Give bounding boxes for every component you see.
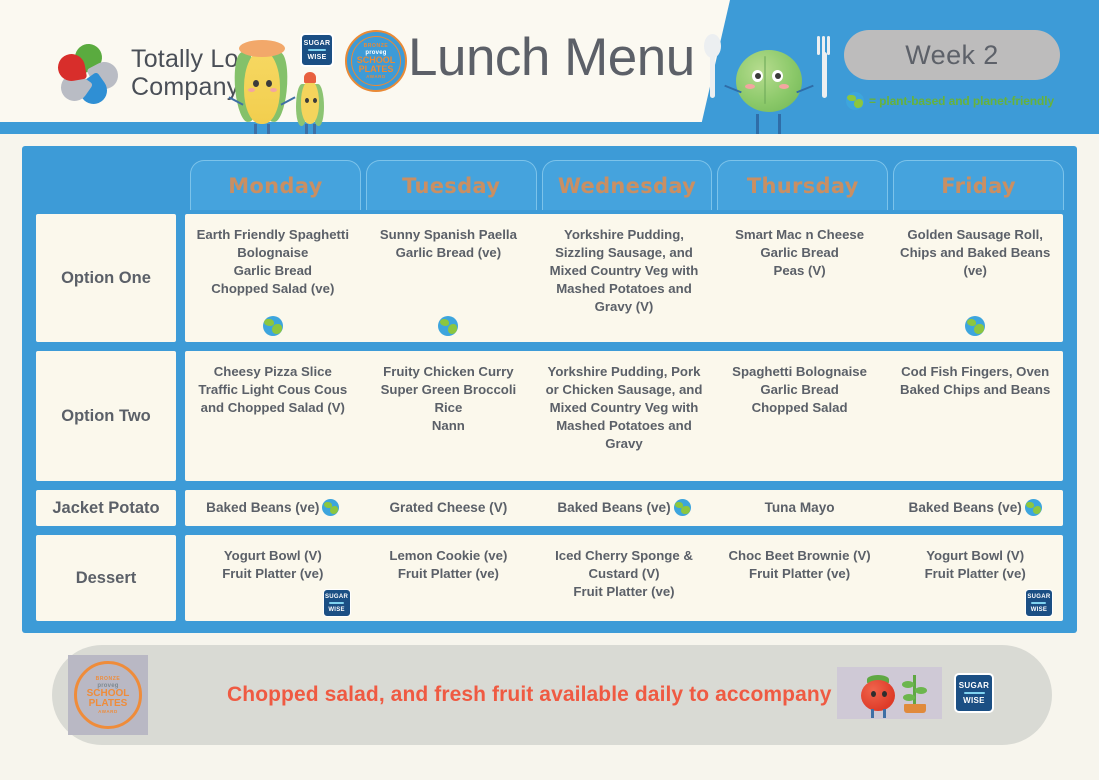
sugarwise-badge-cell: SUGARWISE bbox=[1025, 589, 1053, 617]
sugarwise-bottom-text: WISE bbox=[328, 607, 345, 613]
row-label-text: Option One bbox=[61, 269, 151, 288]
menu-cell: Baked Beans (ve) bbox=[536, 490, 712, 526]
menu-cell: Cheesy Pizza SliceTraffic Light Cous Cou… bbox=[185, 351, 361, 481]
menu-item-text: Fruity Chicken CurrySuper Green Broccoli… bbox=[381, 363, 517, 435]
menu-page: Totally Local Company bbox=[0, 0, 1099, 780]
menu-item-text: Cheesy Pizza SliceTraffic Light Cous Cou… bbox=[198, 363, 347, 417]
row-label-jacket-potato: Jacket Potato bbox=[36, 490, 176, 526]
sugarwise-bottom-text: WISE bbox=[307, 54, 326, 61]
menu-item-text: Earth Friendly SpaghettiBolognaiseGarlic… bbox=[197, 226, 349, 298]
sugarwise-top-text: SUGAR bbox=[1027, 594, 1050, 600]
menu-cell: Lemon Cookie (ve)Fruit Platter (ve) bbox=[361, 535, 537, 621]
week-badge: Week 2 bbox=[844, 30, 1060, 80]
sugarwise-top-text: SUGAR bbox=[325, 594, 348, 600]
globe-icon bbox=[674, 499, 691, 516]
menu-cell: Baked Beans (ve) bbox=[887, 490, 1063, 526]
sugarwise-bottom-text: WISE bbox=[1031, 607, 1048, 613]
sprout-mascot-icon bbox=[728, 44, 810, 140]
corn-mascot-icon bbox=[236, 36, 290, 140]
row-cells: Yogurt Bowl (V)Fruit Platter (ve)SUGARWI… bbox=[185, 535, 1063, 621]
menu-cell: Choc Beet Brownie (V)Fruit Platter (ve) bbox=[712, 535, 888, 621]
page-header: Totally Local Company bbox=[0, 0, 1099, 148]
sugarwise-swoosh-icon-footer bbox=[964, 691, 985, 695]
plates-award-label-footer: AWARD bbox=[98, 709, 118, 714]
row-cells: Earth Friendly SpaghettiBolognaiseGarlic… bbox=[185, 214, 1063, 342]
plates-tier-label-footer: BRONZE bbox=[96, 676, 121, 682]
menu-item-text: Iced Cherry Sponge &Custard (V)Fruit Pla… bbox=[555, 547, 693, 601]
sugarwise-swoosh-icon bbox=[329, 601, 344, 605]
menu-row: Jacket PotatoBaked Beans (ve)Grated Chee… bbox=[36, 490, 1063, 526]
menu-cell: Yogurt Bowl (V)Fruit Platter (ve)SUGARWI… bbox=[185, 535, 361, 621]
menu-item-text: Grated Cheese (V) bbox=[389, 499, 507, 517]
row-label-text: Option Two bbox=[61, 407, 151, 426]
sugarwise-badge-cell: SUGARWISE bbox=[323, 589, 351, 617]
menu-cell: Iced Cherry Sponge &Custard (V)Fruit Pla… bbox=[536, 535, 712, 621]
row-label-text: Dessert bbox=[76, 569, 137, 588]
menu-item-text: Baked Beans (ve) bbox=[206, 499, 319, 517]
footer-banner: BRONZE proveg SCHOOL PLATES AWARD Choppe… bbox=[52, 645, 1052, 745]
day-label: Thursday bbox=[747, 174, 859, 198]
row-cells: Cheesy Pizza SliceTraffic Light Cous Cou… bbox=[185, 351, 1063, 481]
row-label-option-two: Option Two bbox=[36, 351, 176, 481]
globe-icon bbox=[846, 92, 864, 110]
day-tab-tuesday: Tuesday bbox=[366, 160, 537, 210]
day-label: Wednesday bbox=[558, 174, 696, 198]
week-label: Week 2 bbox=[905, 40, 998, 71]
menu-item-text: Yorkshire Pudding, Porkor Chicken Sausag… bbox=[546, 363, 703, 453]
menu-item-text: Cod Fish Fingers, OvenBaked Chips and Be… bbox=[900, 363, 1050, 399]
day-tab-wednesday: Wednesday bbox=[542, 160, 713, 210]
plates-line2-footer: PLATES bbox=[87, 699, 130, 709]
menu-cell: Golden Sausage Roll,Chips and Baked Bean… bbox=[887, 214, 1063, 342]
fork-icon bbox=[816, 36, 832, 98]
sugarwise-swoosh-icon bbox=[1031, 601, 1046, 605]
menu-row: Option OneEarth Friendly SpaghettiBologn… bbox=[36, 214, 1063, 342]
school-plates-badge-header: BRONZE proveg SCHOOL PLATES AWARD bbox=[345, 30, 407, 92]
menu-item-text: Choc Beet Brownie (V)Fruit Platter (ve) bbox=[729, 547, 871, 583]
menu-row: Option TwoCheesy Pizza SliceTraffic Ligh… bbox=[36, 351, 1063, 481]
spoon-icon bbox=[702, 34, 722, 98]
sugarwise-top-text-footer: SUGAR bbox=[959, 682, 989, 690]
globe-icon bbox=[965, 316, 985, 336]
menu-item-text: Baked Beans (ve) bbox=[909, 499, 1022, 517]
globe-icon bbox=[438, 316, 458, 336]
tomato-mascot-image bbox=[837, 667, 942, 719]
day-tab-monday: Monday bbox=[190, 160, 361, 210]
menu-item-text: Yogurt Bowl (V)Fruit Platter (ve) bbox=[222, 547, 323, 583]
menu-table: Monday Tuesday Wednesday Thursday Friday… bbox=[22, 146, 1077, 633]
menu-item-text: Spaghetti BolognaiseGarlic BreadChopped … bbox=[732, 363, 867, 417]
menu-cell: Yorkshire Pudding,Sizzling Sausage, andM… bbox=[536, 214, 712, 342]
globe-icon bbox=[322, 499, 339, 516]
day-tab-friday: Friday bbox=[893, 160, 1064, 210]
sugarwise-badge-header: SUGAR WISE bbox=[300, 33, 334, 67]
school-plates-badge-footer: BRONZE proveg SCHOOL PLATES AWARD bbox=[68, 655, 148, 735]
sugarwise-badge-footer: SUGAR WISE bbox=[954, 673, 994, 713]
menu-cell: Spaghetti BolognaiseGarlic BreadChopped … bbox=[712, 351, 888, 481]
baby-corn-mascot-icon bbox=[296, 72, 324, 140]
day-tab-thursday: Thursday bbox=[717, 160, 888, 210]
day-label: Friday bbox=[941, 174, 1016, 198]
menu-cell: Yogurt Bowl (V)Fruit Platter (ve)SUGARWI… bbox=[887, 535, 1063, 621]
footer-message: Chopped salad, and fresh fruit available… bbox=[227, 645, 905, 745]
day-header-row: Monday Tuesday Wednesday Thursday Friday bbox=[190, 160, 1064, 210]
menu-item-text: Lemon Cookie (ve)Fruit Platter (ve) bbox=[389, 547, 507, 583]
day-label: Tuesday bbox=[402, 174, 500, 198]
menu-cell: Tuna Mayo bbox=[712, 490, 888, 526]
menu-cell: Earth Friendly SpaghettiBolognaiseGarlic… bbox=[185, 214, 361, 342]
menu-item-text: Smart Mac n CheeseGarlic BreadPeas (V) bbox=[735, 226, 864, 280]
menu-item-text: Tuna Mayo bbox=[765, 499, 835, 517]
menu-row: DessertYogurt Bowl (V)Fruit Platter (ve)… bbox=[36, 535, 1063, 621]
sugarwise-bottom-text-footer: WISE bbox=[963, 697, 985, 705]
menu-item-text: Golden Sausage Roll,Chips and Baked Bean… bbox=[900, 226, 1050, 280]
flower-logo-icon bbox=[58, 44, 118, 102]
row-label-dessert: Dessert bbox=[36, 535, 176, 621]
globe-icon bbox=[263, 316, 283, 336]
sugarwise-swoosh-icon bbox=[308, 48, 326, 52]
row-label-text: Jacket Potato bbox=[52, 499, 159, 518]
menu-item-text: Yogurt Bowl (V)Fruit Platter (ve) bbox=[925, 547, 1026, 583]
menu-rows: Option OneEarth Friendly SpaghettiBologn… bbox=[36, 214, 1063, 621]
day-label: Monday bbox=[228, 174, 322, 198]
menu-cell: Fruity Chicken CurrySuper Green Broccoli… bbox=[361, 351, 537, 481]
legend-label: = plant-based and planet-friendly bbox=[869, 94, 1054, 108]
menu-item-text: Yorkshire Pudding,Sizzling Sausage, andM… bbox=[550, 226, 699, 316]
menu-cell: Baked Beans (ve) bbox=[185, 490, 361, 526]
sugarwise-top-text: SUGAR bbox=[304, 40, 331, 47]
globe-icon bbox=[1025, 499, 1042, 516]
menu-item-text: Baked Beans (ve) bbox=[557, 499, 670, 517]
menu-cell: Grated Cheese (V) bbox=[361, 490, 537, 526]
menu-cell: Yorkshire Pudding, Porkor Chicken Sausag… bbox=[536, 351, 712, 481]
menu-cell: Sunny Spanish PaellaGarlic Bread (ve) bbox=[361, 214, 537, 342]
page-title: Lunch Menu bbox=[408, 27, 695, 88]
menu-cell: Smart Mac n CheeseGarlic BreadPeas (V) bbox=[712, 214, 888, 342]
menu-item-text: Sunny Spanish PaellaGarlic Bread (ve) bbox=[380, 226, 517, 262]
legend: = plant-based and planet-friendly bbox=[846, 92, 1054, 110]
menu-cell: Cod Fish Fingers, OvenBaked Chips and Be… bbox=[887, 351, 1063, 481]
row-label-option-one: Option One bbox=[36, 214, 176, 342]
row-cells: Baked Beans (ve)Grated Cheese (V)Baked B… bbox=[185, 490, 1063, 526]
